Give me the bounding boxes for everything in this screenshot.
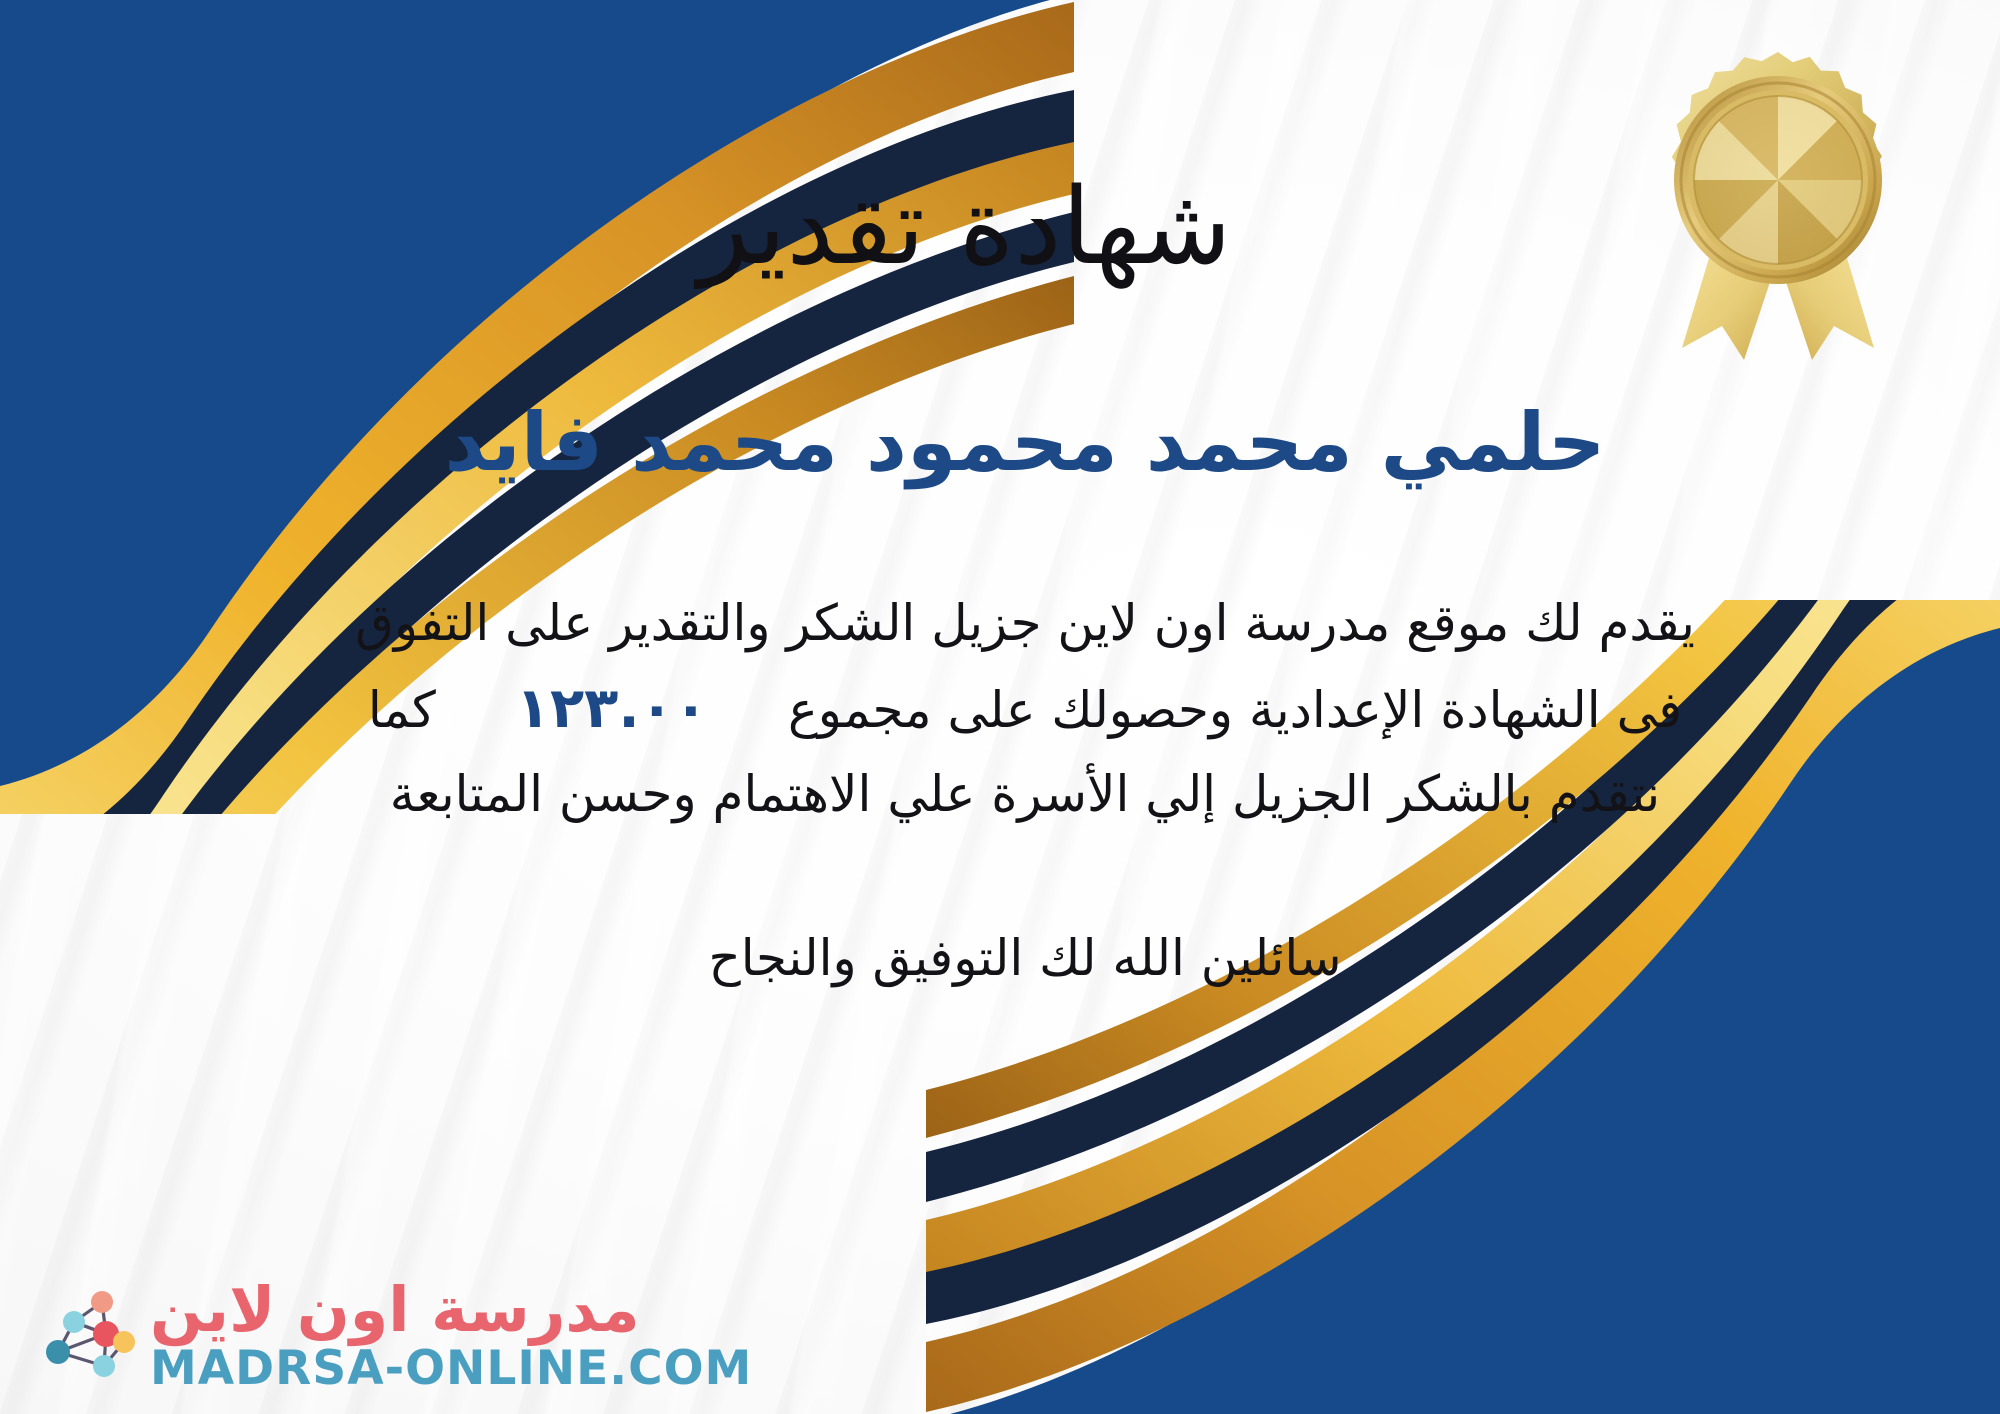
body-line-3: نتقدم بالشكر الجزيل إلي الأسرة علي الاهت…: [200, 754, 1850, 835]
body-line-2: فى الشهادة الإعدادية وحصولك على مجموع١٢٣…: [200, 664, 1850, 755]
closing-wish: سائلين الله لك التوفيق والنجاح: [200, 835, 1850, 996]
brand-wordmark: مدرسة اون لاين MADRSA-ONLINE.COM: [150, 1279, 752, 1392]
recipient-name: حلمي محمد محمود محمد فايد: [200, 287, 1850, 491]
body-line-2-prefix: فى الشهادة الإعدادية وحصولك على مجموع: [788, 681, 1682, 739]
brand-website: MADRSA-ONLINE.COM: [150, 1345, 752, 1392]
brand-logo[interactable]: مدرسة اون لاين MADRSA-ONLINE.COM: [28, 1279, 752, 1392]
network-nodes-icon: [28, 1282, 136, 1390]
certificate-title: شهادة تقدير: [200, 120, 1850, 287]
certificate-canvas: شهادة تقدير حلمي محمد محمود محمد فايد يق…: [0, 0, 2000, 1414]
certificate-content: شهادة تقدير حلمي محمد محمود محمد فايد يق…: [0, 0, 2000, 1414]
brand-arabic-name: مدرسة اون لاين: [150, 1279, 640, 1341]
certificate-body: يقدم لك موقع مدرسة اون لاين جزيل الشكر و…: [200, 491, 1850, 836]
grade-total-value: ١٢٣.٠٠: [482, 676, 742, 741]
body-line-1: يقدم لك موقع مدرسة اون لاين جزيل الشكر و…: [200, 583, 1850, 664]
body-line-2-suffix: كما: [368, 681, 436, 739]
